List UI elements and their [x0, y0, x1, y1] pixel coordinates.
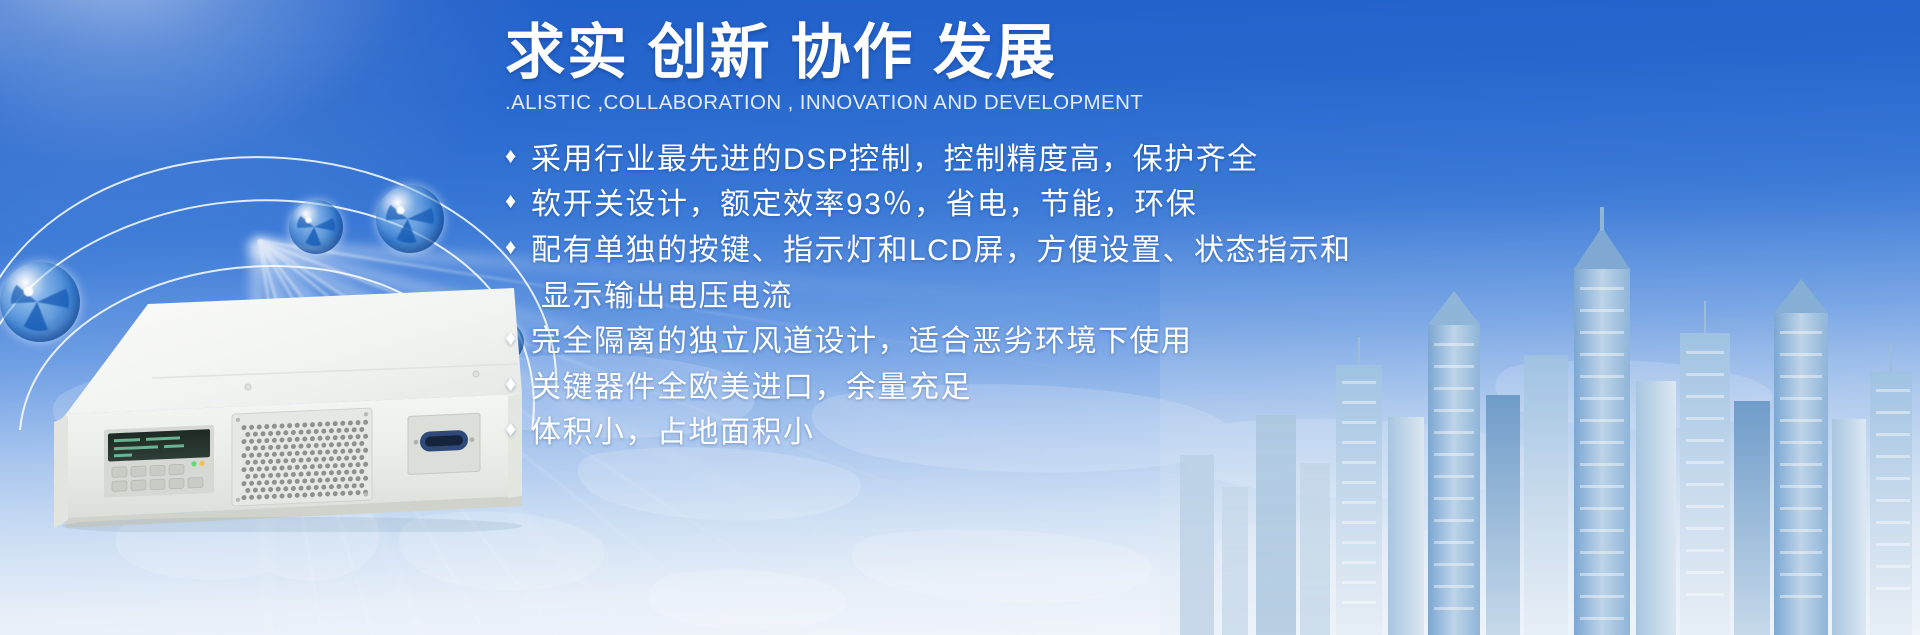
diamond-bullet-icon: ♦ — [505, 182, 531, 220]
diamond-bullet-icon: ♦ — [505, 137, 531, 175]
feature-item-label: 体积小，占地面积小 — [531, 410, 815, 456]
promo-banner: 求实 创新 协作 发展 .ALISTIC ,COLLABORATION , IN… — [0, 0, 1920, 635]
diamond-bullet-icon: ♦ — [505, 410, 531, 448]
feature-item: ♦配有单独的按键、指示灯和LCD屏，方便设置、状态指示和 — [505, 228, 1515, 274]
text-block: 求实 创新 协作 发展 .ALISTIC ,COLLABORATION , IN… — [505, 18, 1515, 456]
feature-item-label: 配有单独的按键、指示灯和LCD屏，方便设置、状态指示和 — [531, 228, 1352, 274]
rack-mount-power-supply — [52, 282, 522, 532]
sun-glow — [0, 0, 190, 150]
feature-list: ♦采用行业最先进的DSP控制，控制精度高，保护齐全♦软开关设计，额定效率93％，… — [505, 137, 1515, 456]
feature-item-label: 软开关设计，额定效率93％，省电，节能，环保 — [531, 182, 1197, 228]
feature-item: ♦采用行业最先进的DSP控制，控制精度高，保护齐全 — [505, 137, 1515, 183]
feature-item: ♦完全隔离的独立风道设计，适合恶劣环境下使用 — [505, 319, 1515, 365]
subheadline: .ALISTIC ,COLLABORATION , INNOVATION AND… — [505, 91, 1515, 115]
feature-item-label: 完全隔离的独立风道设计，适合恶劣环境下使用 — [531, 319, 1193, 365]
diamond-bullet-icon: ♦ — [505, 319, 531, 357]
diamond-bullet-icon: ♦ — [505, 365, 531, 403]
feature-item-label: 显示输出电压电流 — [531, 274, 793, 320]
globe-icon — [289, 200, 343, 254]
diamond-bullet-icon: ♦ — [505, 228, 531, 266]
globe-icon — [376, 185, 444, 253]
feature-item: ♦显示输出电压电流 — [505, 274, 1515, 320]
feature-item: ♦关键器件全欧美进口，余量充足 — [505, 365, 1515, 411]
headline: 求实 创新 协作 发展 — [505, 18, 1515, 89]
feature-item: ♦体积小，占地面积小 — [505, 410, 1515, 456]
feature-item-label: 采用行业最先进的DSP控制，控制精度高，保护齐全 — [531, 137, 1259, 183]
feature-item-label: 关键器件全欧美进口，余量充足 — [531, 365, 972, 411]
feature-item: ♦软开关设计，额定效率93％，省电，节能，环保 — [505, 182, 1515, 228]
